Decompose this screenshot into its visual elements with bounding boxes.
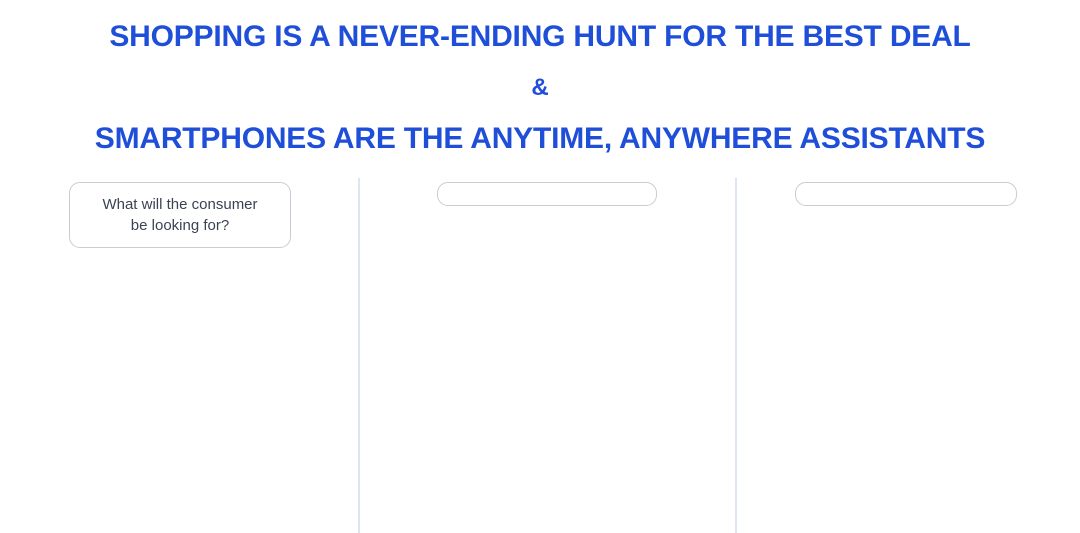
panel-how-smartphones-used bbox=[737, 170, 1080, 533]
headline-ampersand: & bbox=[0, 76, 1080, 100]
panel-where-smartphones-used bbox=[360, 170, 736, 533]
headline-block: SHOPPING IS A NEVER-ENDING HUNT FOR THE … bbox=[0, 0, 1080, 170]
panel-consumer-looking-for: What will the consumerbe looking for? bbox=[0, 170, 359, 533]
headline-line-1: SHOPPING IS A NEVER-ENDING HUNT FOR THE … bbox=[0, 22, 1080, 52]
panels-container: What will the consumerbe looking for? bbox=[0, 170, 1080, 533]
bar-chart-2 bbox=[737, 170, 1080, 533]
bar-chart-1 bbox=[360, 170, 736, 533]
bar-chart-0 bbox=[0, 170, 359, 533]
headline-line-2: SMARTPHONES ARE THE ANYTIME, ANYWHERE AS… bbox=[0, 124, 1080, 154]
